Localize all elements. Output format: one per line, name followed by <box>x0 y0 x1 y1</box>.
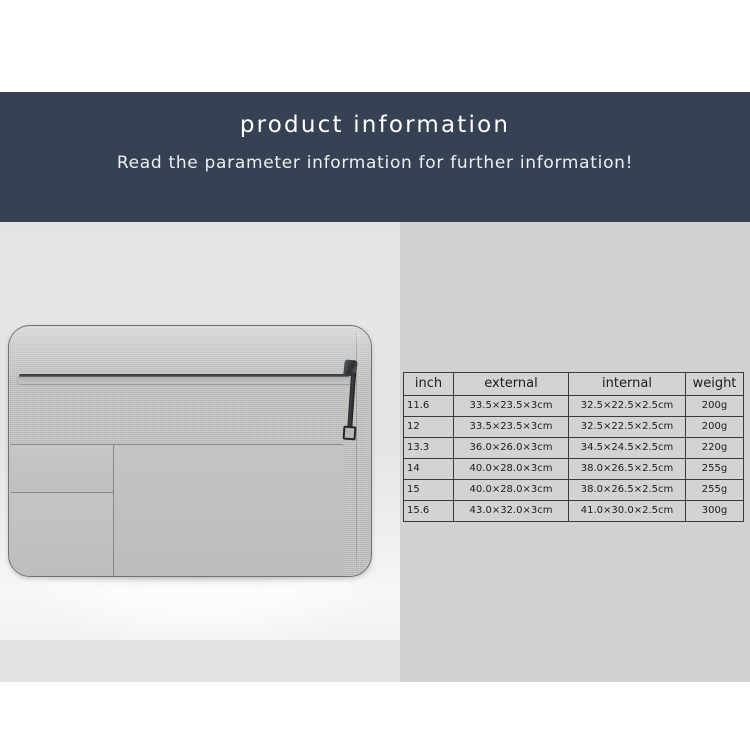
cell-internal: 41.0×30.0×2.5cm <box>569 501 686 522</box>
cell-weight: 200g <box>686 396 744 417</box>
cell-inch: 13.3 <box>404 438 454 459</box>
column-header-inch: inch <box>404 373 454 396</box>
table-header-row: inch external internal weight <box>404 373 744 396</box>
column-header-weight: weight <box>686 373 744 396</box>
cell-weight: 255g <box>686 459 744 480</box>
cell-inch: 15 <box>404 480 454 501</box>
specifications-table: inch external internal weight 11.6 33.5×… <box>403 372 744 522</box>
page-title: product information <box>0 112 750 138</box>
cell-internal: 34.5×24.5×2.5cm <box>569 438 686 459</box>
cell-external: 33.5×23.5×3cm <box>454 417 569 438</box>
cell-inch: 11.6 <box>404 396 454 417</box>
table-row: 12 33.5×23.5×3cm 32.5×22.5×2.5cm 200g <box>404 417 744 438</box>
cell-external: 40.0×28.0×3cm <box>454 459 569 480</box>
table-row: 11.6 33.5×23.5×3cm 32.5×22.5×2.5cm 200g <box>404 396 744 417</box>
product-photo <box>0 225 400 640</box>
table-row: 13.3 36.0×26.0×3cm 34.5×24.5×2.5cm 220g <box>404 438 744 459</box>
column-header-internal: internal <box>569 373 686 396</box>
zipper-pull-ring <box>343 426 357 441</box>
cell-weight: 220g <box>686 438 744 459</box>
cell-external: 33.5×23.5×3cm <box>454 396 569 417</box>
cell-inch: 15.6 <box>404 501 454 522</box>
front-pocket <box>113 444 344 577</box>
cell-weight: 300g <box>686 501 744 522</box>
cell-external: 43.0×32.0×3cm <box>454 501 569 522</box>
side-pocket-lower <box>11 492 115 577</box>
table-row: 15 40.0×28.0×3cm 38.0×26.5×2.5cm 255g <box>404 480 744 501</box>
table-row: 15.6 43.0×32.0×3cm 41.0×30.0×2.5cm 300g <box>404 501 744 522</box>
cell-external: 36.0×26.0×3cm <box>454 438 569 459</box>
cell-inch: 12 <box>404 417 454 438</box>
cell-weight: 255g <box>686 480 744 501</box>
cell-external: 40.0×28.0×3cm <box>454 480 569 501</box>
top-zipper-flap <box>17 377 353 384</box>
table-row: 14 40.0×28.0×3cm 38.0×26.5×2.5cm 255g <box>404 459 744 480</box>
cell-inch: 14 <box>404 459 454 480</box>
header-banner: product information Read the parameter i… <box>0 92 750 222</box>
cell-internal: 32.5×22.5×2.5cm <box>569 417 686 438</box>
cell-internal: 38.0×26.5×2.5cm <box>569 459 686 480</box>
laptop-sleeve-image <box>8 325 372 577</box>
cell-internal: 32.5×22.5×2.5cm <box>569 396 686 417</box>
page-subtitle: Read the parameter information for furth… <box>0 153 750 173</box>
column-header-external: external <box>454 373 569 396</box>
side-pocket-upper <box>11 444 115 493</box>
cell-weight: 200g <box>686 417 744 438</box>
cell-internal: 38.0×26.5×2.5cm <box>569 480 686 501</box>
product-information-page: product information Read the parameter i… <box>0 0 750 750</box>
